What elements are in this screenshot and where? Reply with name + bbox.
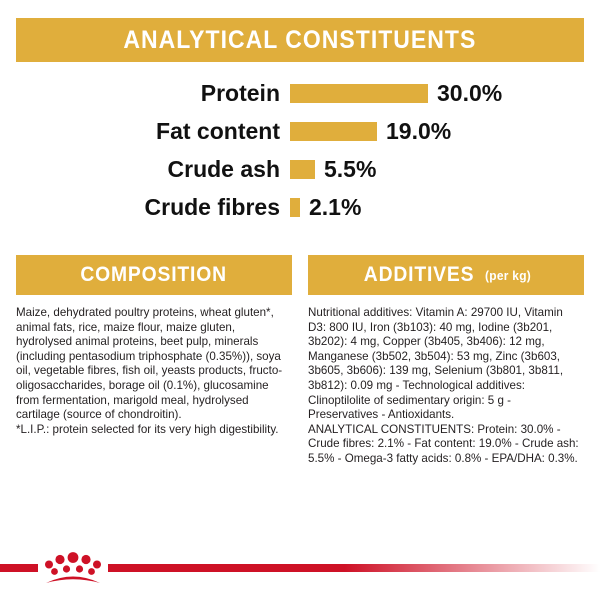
chart-label-protein: Protein <box>0 80 290 107</box>
additives-body: Nutritional additives: Vitamin A: 29700 … <box>308 306 584 467</box>
additives-column: ADDITIVES (per kg) Nutritional additives… <box>308 255 584 467</box>
chart-bar-crude-fibres <box>290 198 300 217</box>
chart-value-protein: 30.0% <box>428 80 502 107</box>
chart-row: Protein 30.0% <box>0 74 600 112</box>
chart-label-crude-fibres: Crude fibres <box>0 194 290 221</box>
composition-column: COMPOSITION Maize, dehydrated poultry pr… <box>16 255 292 467</box>
chart-bar-wrap: 5.5% <box>290 156 376 183</box>
chart-value-fat-content: 19.0% <box>377 118 451 145</box>
chart-value-crude-fibres: 2.1% <box>300 194 361 221</box>
chart-row: Crude ash 5.5% <box>0 150 600 188</box>
page-title: ANALYTICAL CONSTITUENTS <box>124 26 477 55</box>
chart-row: Crude fibres 2.1% <box>0 188 600 226</box>
nutrition-label-page: ANALYTICAL CONSTITUENTS Protein 30.0% Fa… <box>0 0 600 600</box>
chart-bar-wrap: 2.1% <box>290 194 361 221</box>
chart-bar-crude-ash <box>290 160 315 179</box>
chart-label-crude-ash: Crude ash <box>0 156 290 183</box>
additives-heading: ADDITIVES <box>364 263 475 287</box>
chart-value-crude-ash: 5.5% <box>315 156 376 183</box>
chart-bar-fat-content <box>290 122 377 141</box>
chart-bar-wrap: 19.0% <box>290 118 451 145</box>
chart-bar-protein <box>290 84 428 103</box>
brand-footer <box>0 548 600 588</box>
royal-canin-crown-logo <box>40 548 106 588</box>
composition-ingredients: Maize, dehydrated poultry proteins, whea… <box>16 306 292 423</box>
additives-constituents-text: ANALYTICAL CONSTITUENTS: Protein: 30.0% … <box>308 423 584 467</box>
chart-row: Fat content 19.0% <box>0 112 600 150</box>
additives-heading-unit: (per kg) <box>485 268 531 283</box>
footer-rule-left <box>0 564 38 572</box>
additives-nutritional-text: Nutritional additives: Vitamin A: 29700 … <box>308 306 584 423</box>
composition-body: Maize, dehydrated poultry proteins, whea… <box>16 306 292 437</box>
composition-banner: COMPOSITION <box>16 255 292 295</box>
composition-heading: COMPOSITION <box>81 263 228 287</box>
analytical-constituents-chart: Protein 30.0% Fat content 19.0% Crude as… <box>0 74 600 226</box>
chart-bar-wrap: 30.0% <box>290 80 502 107</box>
detail-columns: COMPOSITION Maize, dehydrated poultry pr… <box>0 255 600 467</box>
additives-banner: ADDITIVES (per kg) <box>308 255 584 295</box>
composition-footnote: *L.I.P.: protein selected for its very h… <box>16 423 292 438</box>
footer-rule-right <box>108 564 600 572</box>
chart-label-fat-content: Fat content <box>0 118 290 145</box>
analytical-constituents-banner: ANALYTICAL CONSTITUENTS <box>16 18 584 62</box>
